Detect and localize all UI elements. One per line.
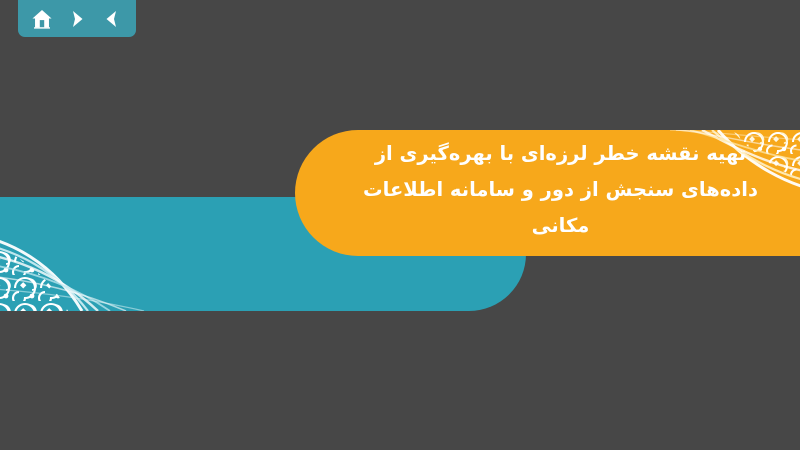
slide-navigation-bar bbox=[18, 0, 136, 37]
home-icon bbox=[31, 8, 53, 30]
title-line-3: مکانی bbox=[325, 208, 796, 244]
presentation-slide: تهیه نقشه خطر لرزه‌ای با بهره‌گیری از دا… bbox=[0, 0, 800, 450]
slide-title: تهیه نقشه خطر لرزه‌ای با بهره‌گیری از دا… bbox=[325, 136, 796, 244]
back-button[interactable] bbox=[99, 6, 125, 32]
home-button[interactable] bbox=[29, 6, 55, 32]
title-banner: تهیه نقشه خطر لرزه‌ای با بهره‌گیری از دا… bbox=[295, 130, 800, 256]
triangle-left-icon bbox=[102, 9, 122, 29]
forward-button[interactable] bbox=[64, 6, 90, 32]
title-line-2: داده‌های سنجش از دور و سامانه اطلاعات bbox=[325, 172, 796, 208]
title-line-1: تهیه نقشه خطر لرزه‌ای با بهره‌گیری از bbox=[325, 136, 796, 172]
triangle-right-icon bbox=[67, 9, 87, 29]
arabesque-ornament-icon bbox=[0, 197, 160, 311]
